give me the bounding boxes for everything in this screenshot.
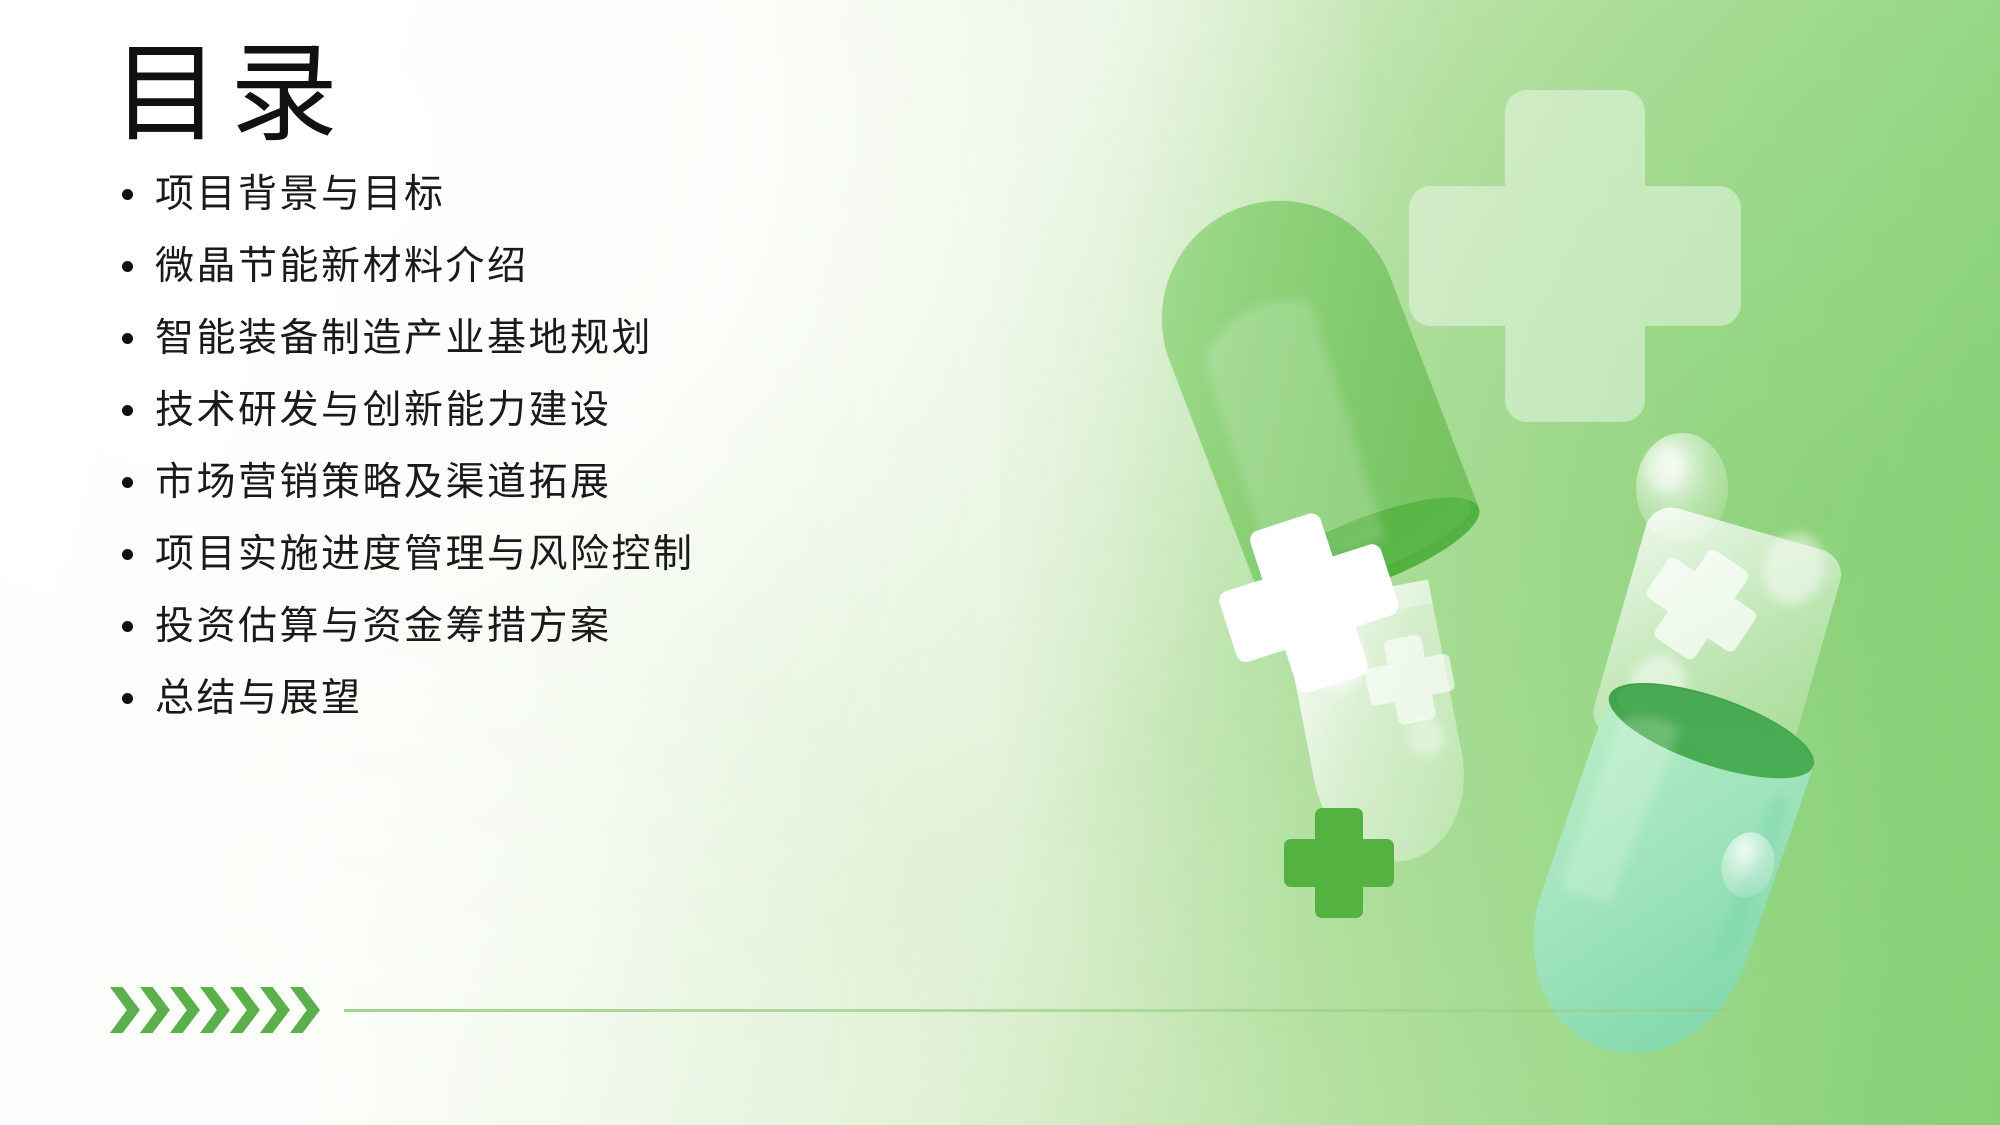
footer-decoration bbox=[110, 987, 1830, 1033]
bullet-icon bbox=[122, 693, 133, 704]
list-item[interactable]: 市场营销策略及渠道拓展 bbox=[112, 463, 1012, 502]
list-item[interactable]: 总结与展望 bbox=[112, 679, 1012, 718]
chevron-right-icon bbox=[290, 987, 320, 1033]
chevron-right-icon bbox=[170, 987, 200, 1033]
bullet-icon bbox=[122, 549, 133, 560]
bullet-icon bbox=[122, 621, 133, 632]
toc-item-label: 投资估算与资金筹措方案 bbox=[155, 607, 612, 646]
list-item[interactable]: 技术研发与创新能力建设 bbox=[112, 391, 1012, 430]
page-title: 目录 bbox=[112, 36, 1012, 157]
chevron-right-icon bbox=[110, 987, 140, 1033]
bullet-icon bbox=[122, 405, 133, 416]
slide-canvas: 目录 项目背景与目标 微晶节能新材料介绍 智能装备制造产业基地规划 技术研发与创… bbox=[0, 0, 2000, 1125]
list-item[interactable]: 项目背景与目标 bbox=[112, 175, 1012, 214]
toc-item-label: 技术研发与创新能力建设 bbox=[155, 391, 612, 430]
footer-rule-line bbox=[344, 1009, 1830, 1012]
toc-item-label: 总结与展望 bbox=[155, 679, 363, 718]
chevron-right-icon bbox=[200, 987, 230, 1033]
toc-item-label: 智能装备制造产业基地规划 bbox=[155, 319, 653, 358]
content-block: 目录 项目背景与目标 微晶节能新材料介绍 智能装备制造产业基地规划 技术研发与创… bbox=[112, 36, 1012, 751]
list-item[interactable]: 微晶节能新材料介绍 bbox=[112, 247, 1012, 286]
toc-item-label: 项目背景与目标 bbox=[155, 175, 446, 214]
list-item[interactable]: 智能装备制造产业基地规划 bbox=[112, 319, 1012, 358]
toc-list: 项目背景与目标 微晶节能新材料介绍 智能装备制造产业基地规划 技术研发与创新能力… bbox=[112, 175, 1012, 718]
bullet-icon bbox=[122, 477, 133, 488]
bullet-icon bbox=[122, 261, 133, 272]
list-item[interactable]: 投资估算与资金筹措方案 bbox=[112, 607, 1012, 646]
bullet-icon bbox=[122, 333, 133, 344]
chevron-right-icon bbox=[140, 987, 170, 1033]
chevron-right-icon bbox=[260, 987, 290, 1033]
toc-item-label: 市场营销策略及渠道拓展 bbox=[155, 463, 612, 502]
bullet-icon bbox=[122, 189, 133, 200]
toc-item-label: 微晶节能新材料介绍 bbox=[155, 247, 529, 286]
chevron-right-icon bbox=[230, 987, 260, 1033]
toc-item-label: 项目实施进度管理与风险控制 bbox=[155, 535, 695, 574]
list-item[interactable]: 项目实施进度管理与风险控制 bbox=[112, 535, 1012, 574]
chevron-group bbox=[110, 987, 320, 1033]
